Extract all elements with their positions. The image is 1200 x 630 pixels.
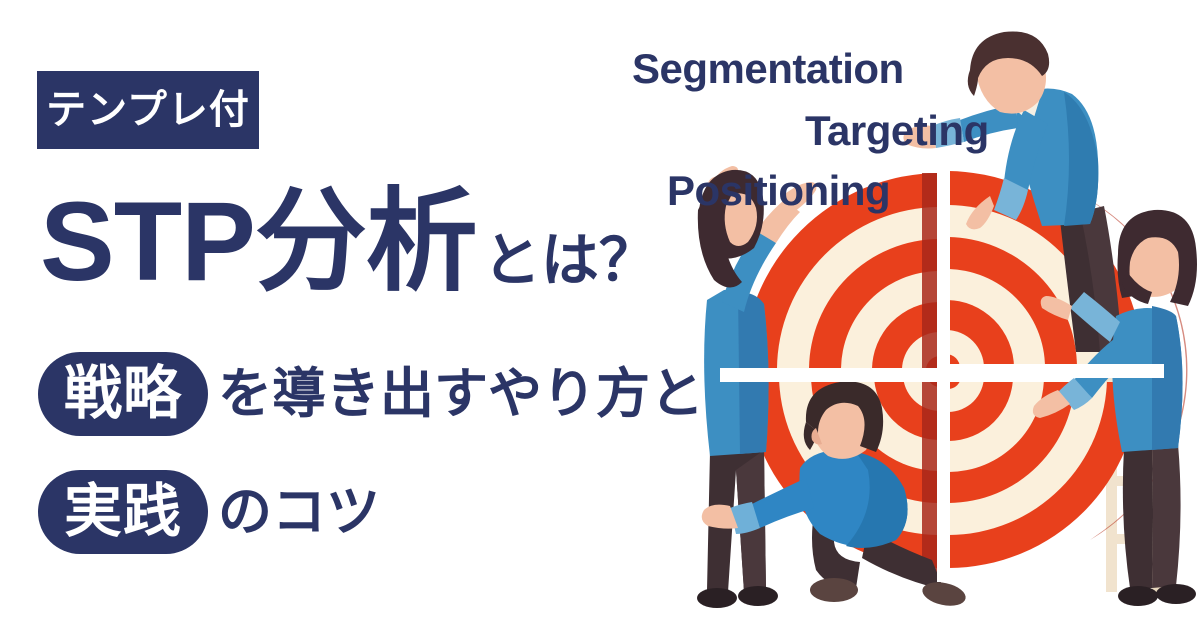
subtitle-line-2-text: のコツ [218, 485, 380, 539]
page-title-main: STP分析 [40, 186, 477, 298]
page-title: STP分析 とは？ [40, 186, 657, 298]
subtitle-line-1: 戦略 を導き出すやり方と [38, 352, 704, 436]
subtitle-pill-practice-label: 実践 [64, 483, 182, 541]
stp-word-segmentation: Segmentation [632, 48, 904, 90]
subtitle-pill-strategy-label: 戦略 [64, 365, 182, 423]
subtitle-pill-strategy: 戦略 [38, 352, 208, 436]
stp-word-positioning: Positioning [667, 170, 890, 212]
subtitle-pill-practice: 実践 [38, 470, 208, 554]
subtitle-line-1-text: を導き出すやり方と [218, 367, 704, 421]
stp-word-targeting: Targeting [805, 110, 989, 152]
target-illustration [660, 0, 1200, 630]
poster-canvas: テンプレ付 STP分析 とは？ 戦略 を導き出すやり方と 実践 のコツ Segm… [0, 0, 1200, 630]
subtitle-line-2: 実践 のコツ [38, 470, 380, 554]
page-title-suffix: とは？ [483, 232, 657, 290]
template-badge-label: テンプレ付 [46, 90, 250, 130]
template-badge: テンプレ付 [37, 71, 259, 149]
